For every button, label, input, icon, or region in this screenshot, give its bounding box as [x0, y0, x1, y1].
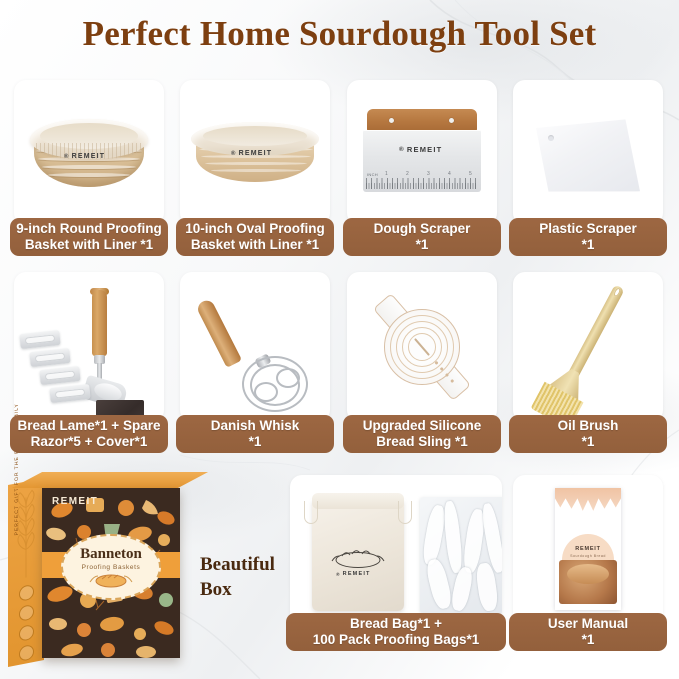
product-image-plastic-scraper	[513, 80, 663, 225]
gift-box-front-panel: REMEIT Banneton Proofing Baskets	[42, 488, 180, 658]
ruler-number: 2	[406, 171, 409, 177]
product-card-oval-proofing-basket[interactable]: ®REMEIT	[180, 80, 330, 225]
product-image-round-proofing-basket: ®REMEIT	[14, 80, 164, 225]
product-label-round-proofing-basket: 9-inch Round Proofing Basket with Liner …	[10, 218, 168, 256]
gift-box-brand: REMEIT	[52, 496, 98, 507]
loaf-icon	[330, 547, 386, 569]
product-image-bread-sling	[347, 272, 497, 422]
manual-subtitle: Sourdough Bread	[555, 554, 621, 558]
ruler-inch-label: INCH	[367, 172, 378, 177]
product-image-oval-proofing-basket: ®REMEIT	[180, 80, 330, 225]
product-card-danish-whisk[interactable]	[180, 272, 330, 422]
product-label-plastic-scraper: Plastic Scraper *1	[509, 218, 667, 256]
product-image-dough-scraper: INCH 1 2 3 4 5 ®REMEIT	[347, 80, 497, 225]
gift-box-image: PERFECT GIFT FOR THE BAKING FAMILY	[8, 478, 194, 668]
product-card-round-proofing-basket[interactable]: ®REMEIT	[14, 80, 164, 225]
product-card-user-manual[interactable]: REMEIT Sourdough Bread	[513, 475, 663, 623]
gift-box-name-plate: Banneton Proofing Baskets	[61, 534, 161, 600]
gift-box-name: Banneton	[80, 546, 142, 563]
product-label-oval-proofing-basket: 10-inch Oval Proofing Basket with Liner …	[176, 218, 334, 256]
gift-box-top-panel	[12, 472, 208, 488]
product-image-danish-whisk	[180, 272, 330, 422]
product-card-dough-scraper[interactable]: INCH 1 2 3 4 5 ®REMEIT	[347, 80, 497, 225]
product-label-bread-lame: Bread Lame*1 + Spare Razor*5 + Cover*1	[10, 415, 168, 453]
brand-logo: ®REMEIT	[336, 571, 371, 577]
product-card-bread-bag[interactable]: ®REMEIT	[290, 475, 502, 623]
manual-brand: REMEIT	[555, 546, 621, 552]
product-image-bread-lame	[14, 272, 164, 422]
gift-box-subtitle: Proofing Baskets	[82, 564, 141, 571]
beautiful-box-callout: Beautiful Box	[200, 552, 275, 602]
proofing-bags-pack	[420, 497, 502, 613]
loaf-icon	[88, 572, 134, 588]
brand-logo: ®REMEIT	[399, 145, 442, 154]
ruler-number: 5	[469, 171, 472, 177]
product-label-user-manual: User Manual *1	[509, 613, 667, 651]
gift-box-side-panel: PERFECT GIFT FOR THE BAKING FAMILY	[8, 478, 44, 667]
brand-logo: ®REMEIT	[231, 150, 272, 157]
product-label-bread-sling: Upgraded Silicone Bread Sling *1	[343, 415, 501, 453]
product-image-bread-bag: ®REMEIT	[290, 475, 502, 623]
product-image-user-manual: REMEIT Sourdough Bread	[513, 475, 663, 623]
product-card-plastic-scraper[interactable]	[513, 80, 663, 225]
product-label-bread-bag: Bread Bag*1 + 100 Pack Proofing Bags*1	[286, 613, 506, 651]
ruler-number: 4	[448, 171, 451, 177]
page-title: Perfect Home Sourdough Tool Set	[0, 14, 679, 54]
product-infographic: Perfect Home Sourdough Tool Set ®REMEIT …	[0, 0, 679, 679]
product-image-oil-brush	[513, 272, 663, 422]
product-card-bread-lame[interactable]	[14, 272, 164, 422]
ruler-number: 3	[427, 171, 430, 177]
product-label-oil-brush: Oil Brush *1	[509, 415, 667, 453]
product-card-bread-sling[interactable]	[347, 272, 497, 422]
product-label-dough-scraper: Dough Scraper *1	[343, 218, 501, 256]
ruler-number: 1	[385, 171, 388, 177]
product-card-oil-brush[interactable]	[513, 272, 663, 422]
brand-logo: ®REMEIT	[64, 153, 105, 160]
product-label-danish-whisk: Danish Whisk *1	[176, 415, 334, 453]
